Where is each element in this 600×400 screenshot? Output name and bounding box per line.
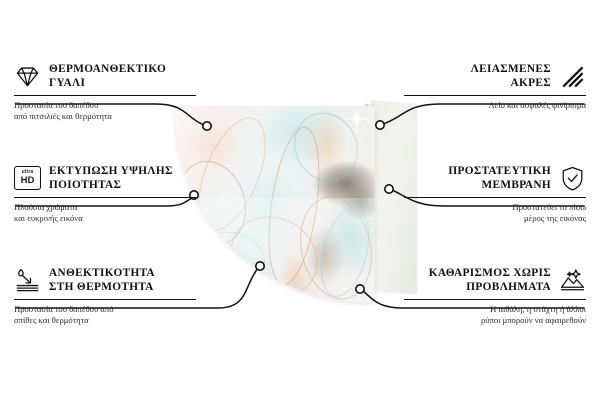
feature-title-line-1: ΠΡΟΣΤΑΤΕΥΤΙΚΗ (448, 164, 551, 178)
feature-title-line-2: ΠΟΙΟΤΗΤΑΣ (49, 178, 173, 192)
sparkle-clean-icon (559, 267, 586, 294)
feature-title-line-1: ΑΝΘΕΚΤΙΚΟΤΗΤΑ (49, 266, 155, 280)
feature-title-line-1: ΘΕΡΜΟΑΝΘΕΚΤΙΚΟ (49, 62, 166, 76)
feature-polished-edges: ΛΕΙΑΣΜΕΝΕΣ ΑΚΡΕΣ Λείο και ασφαλές φινίρι… (404, 62, 586, 111)
feature-subtitle-line-1: Η αιθάλη, η στάχτη ή άλλοι (404, 304, 586, 315)
feature-heat-durability: ΑΝΘΕΚΤΙΚΟΤΗΤΑ ΣΤΗ ΘΕΡΜΟΤΗΤΑ Προστασία το… (14, 266, 196, 326)
endpoint-dot-polished-edges (376, 121, 384, 129)
shield-check-icon (559, 165, 586, 192)
flame-heat-resistance-icon (14, 267, 41, 294)
feature-title-line-2: ΣΤΗ ΘΕΡΜΟΤΗΤΑ (49, 280, 155, 294)
feature-title-line-2: ΠΡΟΒΛΗΜΑΤΑ (466, 280, 551, 294)
feature-subtitle-line-2: σπίθες και θερμότητα (14, 315, 196, 326)
diagonal-stripes-icon (559, 63, 586, 90)
infographic-canvas: ΘΕΡΜΟΑΝΘΕΚΤΙΚΟ ΓΥΑΛΙ Προστασία του δαπέδ… (0, 0, 600, 400)
feature-title-line-1: ΕΚΤΥΠΩΣΗ ΥΨΗΛΗΣ (49, 164, 173, 178)
feature-subtitle-line-1: Προστασία του δαπέδου από (14, 304, 196, 315)
endpoint-dot-heat-durability (256, 262, 264, 270)
feature-easy-cleaning: ΚΑΘΑΡΙΣΜΟΣ ΧΩΡΙΣ ΠΡΟΒΛΗΜΑΤΑ Η αιθάλη, η … (404, 266, 586, 326)
ultra-hd-icon-bottom-text: HD (21, 176, 35, 186)
feature-subtitle-line-2: από πιτσιλιές και θερμότητα (14, 111, 196, 122)
feature-subtitle-line-2: και ευκρινής εικόνα (14, 213, 196, 224)
feature-title-line-2: ΓΥΑΛΙ (49, 76, 166, 90)
ultra-hd-icon: ultra HD (14, 166, 41, 190)
feature-title-line-1: ΚΑΘΑΡΙΣΜΟΣ ΧΩΡΙΣ (429, 266, 551, 280)
divider (404, 299, 586, 300)
divider (404, 95, 586, 96)
feature-protective-membrane: ΠΡΟΣΤΑΤΕΥΤΙΚΗ ΜΕΜΒΡΑΝΗ Προστατεύει το πί… (404, 164, 586, 224)
feature-high-quality-print: ultra HD ΕΚΤΥΠΩΣΗ ΥΨΗΛΗΣ ΠΟΙΟΤΗΤΑΣ Πλούσ… (14, 164, 196, 224)
divider (14, 299, 196, 300)
diamond-icon (14, 63, 41, 90)
endpoint-dot-easy-cleaning (356, 285, 364, 293)
divider (14, 95, 196, 96)
feature-title-line-2: ΜΕΜΒΡΑΝΗ (481, 178, 551, 192)
feature-heat-resistant-glass: ΘΕΡΜΟΑΝΘΕΚΤΙΚΟ ΓΥΑΛΙ Προστασία του δαπέδ… (14, 62, 196, 122)
feature-subtitle-line-1: Λείο και ασφαλές φινίρισμα (404, 100, 586, 111)
feature-subtitle-line-2: ρύποι μπορούν να αφαιρεθούν (404, 315, 586, 326)
endpoint-dot-heat-resistant-glass (203, 122, 211, 130)
divider (14, 197, 196, 198)
feature-subtitle-line-1: Προστασία του δαπέδου (14, 100, 196, 111)
feature-subtitle-line-2: μέρος της εικόνας (404, 213, 586, 224)
feature-subtitle-line-1: Προστατεύει το πίσω (404, 202, 586, 213)
divider (404, 197, 586, 198)
endpoint-dot-protective-membrane (385, 185, 393, 193)
feature-title-line-1: ΛΕΙΑΣΜΕΝΕΣ (471, 62, 551, 76)
feature-title-line-2: ΑΚΡΕΣ (510, 76, 551, 90)
feature-subtitle-line-1: Πλούσια χρώματα (14, 202, 196, 213)
